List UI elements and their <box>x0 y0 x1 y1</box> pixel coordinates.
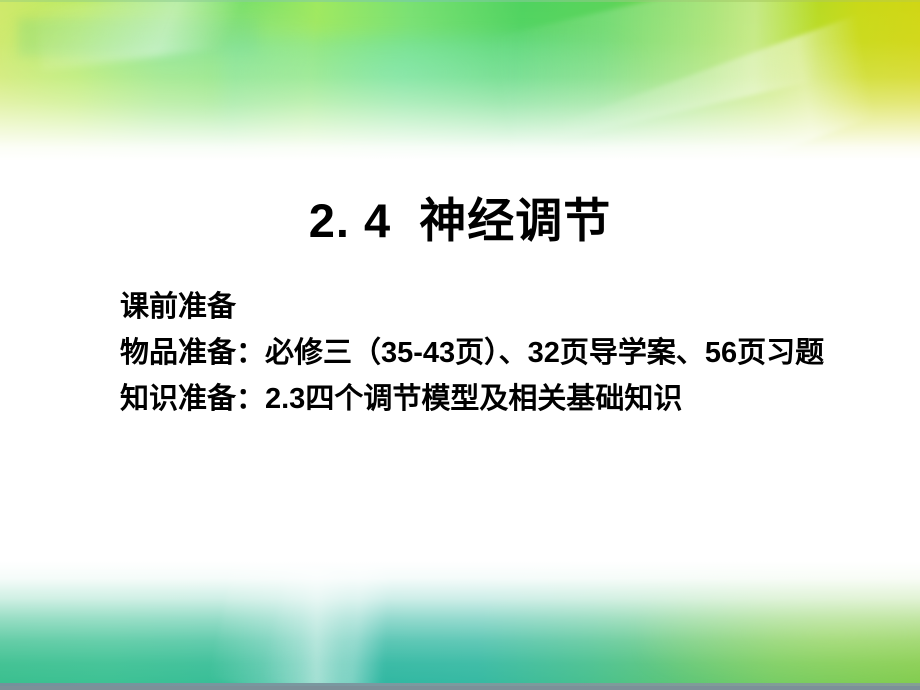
bottom-banner-white-fade <box>0 561 920 686</box>
bottom-banner-edge-line <box>0 683 920 686</box>
body-line-heading: 课前准备 <box>120 284 850 330</box>
presentation-slide: 2. 4 神经调节 课前准备 物品准备：必修三（35-43页）、32页导学案、5… <box>0 0 920 690</box>
body-text-block: 课前准备 物品准备：必修三（35-43页）、32页导学案、56页习题 知识准备：… <box>120 284 850 422</box>
body-line-knowledge: 知识准备：2.3四个调节模型及相关基础知识 <box>120 376 850 422</box>
page-title: 2. 4 神经调节 <box>0 192 920 250</box>
bottom-decorative-banner <box>0 561 920 686</box>
body-line-materials: 物品准备：必修三（35-43页）、32页导学案、56页习题 <box>120 330 850 376</box>
